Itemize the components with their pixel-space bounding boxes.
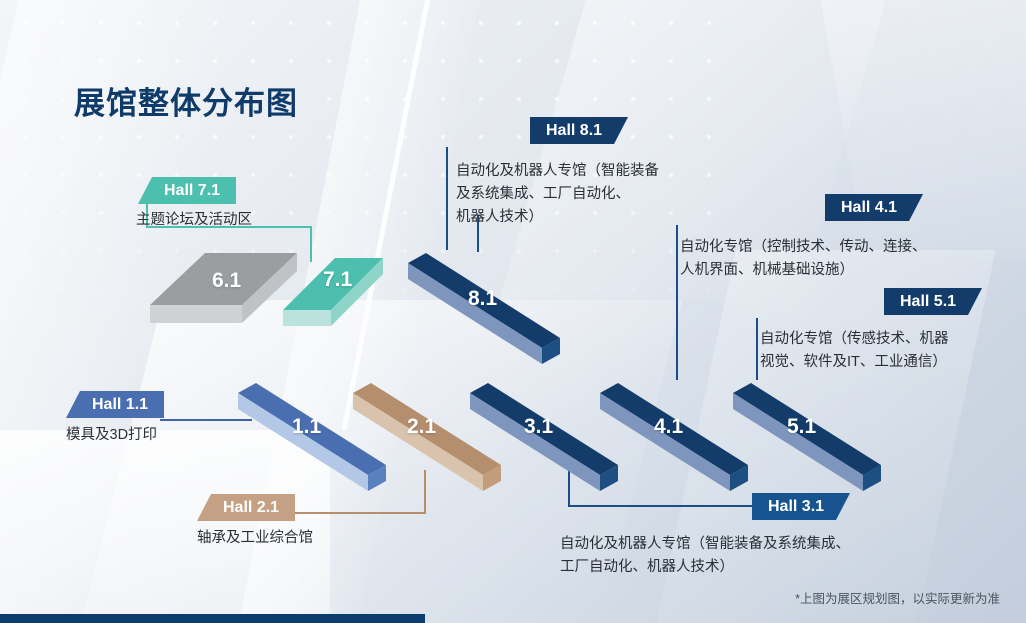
hall-banner-label-4-1: Hall 4.1 — [841, 199, 897, 217]
hall-description-5-1: 自动化专馆（传感技术、机器 视觉、软件及IT、工业通信） — [760, 328, 1020, 374]
hall-banner-label-7-1: Hall 7.1 — [164, 182, 220, 200]
hall-banner-label-5-1: Hall 5.1 — [900, 293, 956, 311]
hall-banner-1-1[interactable]: Hall 1.1 — [66, 391, 164, 418]
hall-banner-8-1[interactable]: Hall 8.1 — [530, 117, 628, 144]
hall-banner-label-3-1: Hall 3.1 — [768, 498, 824, 516]
bottom-accent-bar — [0, 614, 425, 623]
hall-description-3-1: 自动化及机器人专馆（智能装备及系统集成、 工厂自动化、机器人技术） — [560, 533, 920, 579]
hall-banner-label-8-1: Hall 8.1 — [546, 122, 602, 140]
hall-slab-7-1[interactable]: 7.1 — [283, 258, 393, 353]
page-title: 展馆整体分布图 — [74, 78, 298, 123]
footnote-text: *上图为展区规划图，以实际更新为准 — [795, 588, 1000, 607]
hall-banner-5-1[interactable]: Hall 5.1 — [884, 288, 982, 315]
hall-description-2-1: 轴承及工业综合馆 — [197, 527, 447, 550]
hall-banner-2-1[interactable]: Hall 2.1 — [197, 494, 295, 521]
hall-slab-6-1[interactable]: 6.1 — [150, 253, 305, 378]
hall-banner-label-2-1: Hall 2.1 — [223, 499, 279, 517]
hall-description-4-1: 自动化专馆（控制技术、传动、连接、 人机界面、机械基础设施） — [680, 236, 1010, 282]
hall-description-7-1: 主题论坛及活动区 — [136, 209, 396, 232]
hall-banner-3-1[interactable]: Hall 3.1 — [752, 493, 850, 520]
hall-banner-label-1-1: Hall 1.1 — [92, 396, 148, 414]
hall-slab-2-1[interactable]: 2.1 — [353, 383, 513, 498]
hall-banner-4-1[interactable]: Hall 4.1 — [825, 194, 923, 221]
hall-description-1-1: 模具及3D打印 — [66, 424, 286, 447]
hall-slab-5-1[interactable]: 5.1 — [733, 383, 893, 498]
hall-banner-7-1[interactable]: Hall 7.1 — [138, 177, 236, 204]
hall-description-8-1: 自动化及机器人专馆（智能装备 及系统集成、工厂自动化、 机器人技术） — [456, 160, 736, 229]
hall-map-diagram: 展馆整体分布图 — [0, 0, 1026, 623]
hall-slab-8-1[interactable]: 8.1 — [408, 253, 573, 378]
